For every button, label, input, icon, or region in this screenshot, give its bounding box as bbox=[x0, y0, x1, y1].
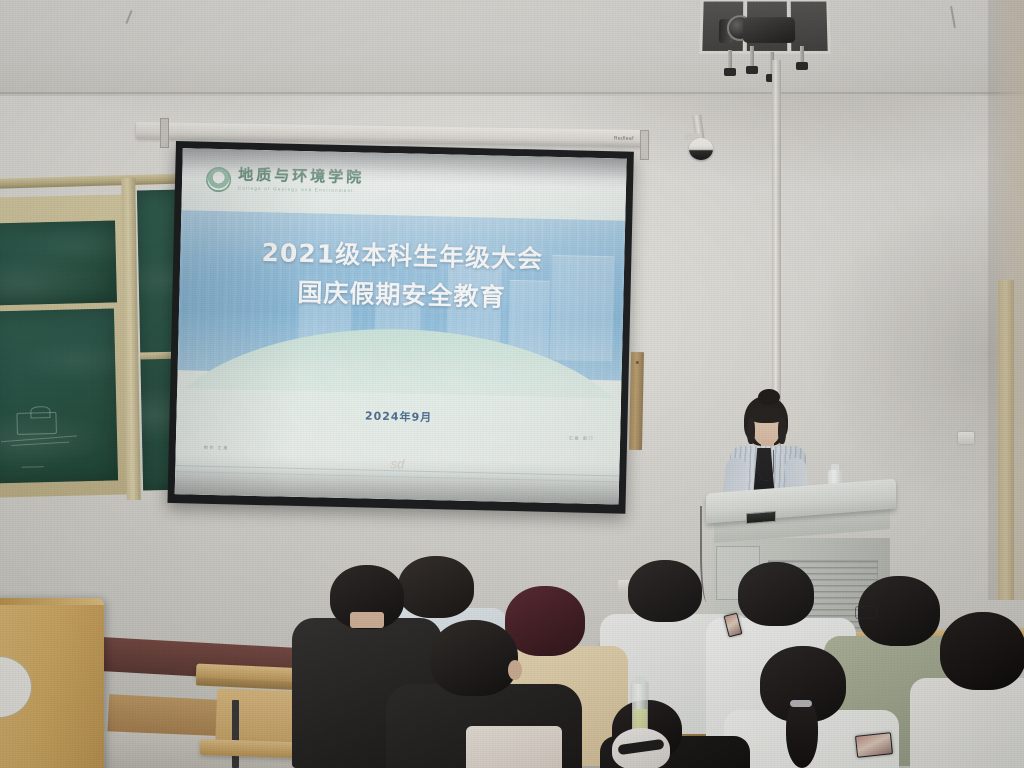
student-hair bbox=[628, 560, 702, 622]
phone-screen bbox=[856, 733, 892, 756]
screen-bracket bbox=[640, 130, 649, 160]
chalk-dust bbox=[0, 220, 117, 305]
student-phone[interactable] bbox=[855, 732, 893, 758]
ceiling-seam bbox=[0, 92, 1024, 94]
chalk-dust bbox=[0, 308, 118, 483]
white-bag bbox=[466, 726, 562, 768]
projector-body bbox=[743, 17, 795, 43]
dome-camera-icon bbox=[689, 138, 713, 160]
student-hair bbox=[398, 556, 474, 618]
student-hair bbox=[738, 562, 814, 626]
podium-cable bbox=[700, 506, 714, 602]
cage-foot bbox=[796, 62, 808, 70]
wall-outlet-plate bbox=[958, 432, 974, 444]
projection-surface: 地质与环境学院 College of Geology and Environme… bbox=[175, 148, 627, 504]
panel-oval-cutout bbox=[0, 656, 32, 718]
presenter-hair-bun bbox=[758, 389, 780, 405]
ceiling bbox=[0, 0, 1024, 96]
panel-top-edge bbox=[0, 598, 104, 605]
cage-foot bbox=[724, 68, 736, 76]
student-head bbox=[398, 556, 474, 618]
projection-screen: 地质与环境学院 College of Geology and Environme… bbox=[167, 141, 633, 514]
ceiling-projector-cage bbox=[700, 0, 830, 70]
podium-control-panel bbox=[746, 511, 776, 524]
cage-foot bbox=[746, 66, 758, 74]
student-neck bbox=[350, 612, 384, 628]
student-hair bbox=[430, 620, 518, 696]
projector-cage-box bbox=[699, 0, 831, 54]
wooden-panel bbox=[0, 598, 104, 768]
student-head bbox=[940, 612, 1024, 690]
hair-tie-icon bbox=[790, 700, 812, 707]
presenter-lanyard bbox=[758, 450, 774, 481]
student-body bbox=[910, 678, 1024, 768]
cage-rod bbox=[750, 46, 754, 68]
bottle-cap-icon bbox=[635, 676, 645, 684]
student-glasses-icon bbox=[855, 606, 877, 619]
desk-leg bbox=[232, 700, 239, 768]
college-name-en: College of Geology and Environment bbox=[238, 185, 364, 193]
chalk-drawing bbox=[30, 406, 50, 418]
student-hair bbox=[940, 612, 1024, 690]
student-head bbox=[628, 560, 702, 622]
slide-fine-print-left: 制作 汇报 bbox=[204, 445, 229, 452]
student-ponytail bbox=[786, 700, 818, 768]
chalkboard-lower bbox=[0, 308, 118, 483]
student-head bbox=[738, 562, 814, 626]
presenter-sidelock bbox=[747, 418, 755, 444]
presenter-sidelock bbox=[778, 418, 786, 444]
student-head bbox=[430, 620, 518, 696]
screen-side-wood-strip bbox=[629, 352, 644, 450]
cage-rod bbox=[728, 50, 732, 70]
classroom-photo-scene: Redleaf 地 bbox=[0, 0, 1024, 768]
student-ear bbox=[508, 660, 522, 680]
screen-brand-label: Redleaf bbox=[614, 136, 634, 142]
presentation-slide: 地质与环境学院 College of Geology and Environme… bbox=[175, 148, 627, 504]
slide-title-block: 2021级本科生年级大会 国庆假期安全教育 bbox=[179, 232, 625, 320]
screen-bracket bbox=[160, 118, 169, 148]
slide-fine-print-right: 汇报 部门 bbox=[569, 435, 594, 442]
chalkboard-upper bbox=[0, 220, 117, 305]
wall-corner-trim bbox=[998, 280, 1014, 600]
